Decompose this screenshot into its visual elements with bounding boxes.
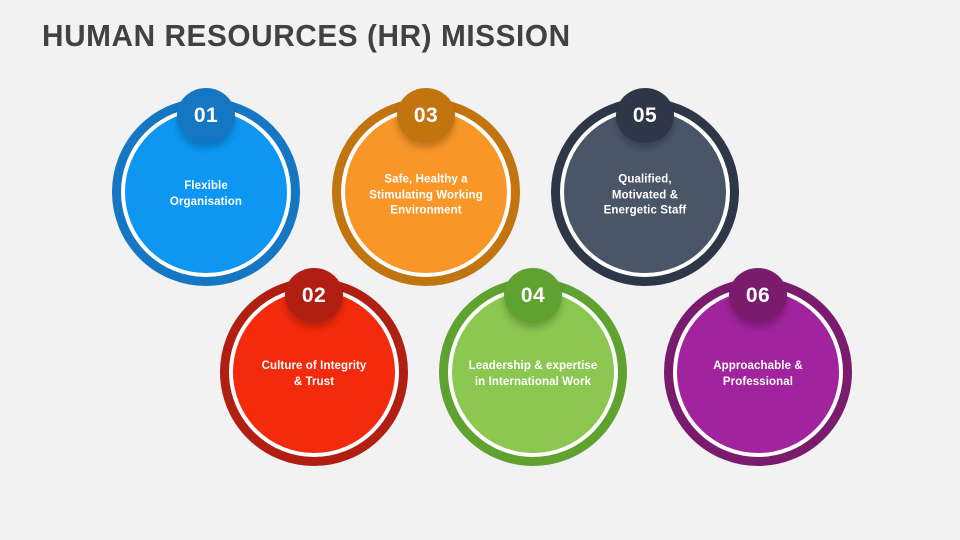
- mission-circle-label: FlexibleOrganisation: [125, 179, 287, 210]
- page-title: HUMAN RESOURCES (HR) MISSION: [42, 18, 571, 54]
- mission-circle-label: Safe, Healthy aStimulating WorkingEnviro…: [345, 172, 507, 219]
- mission-circle-label: Leadership & expertisein International W…: [452, 359, 614, 390]
- mission-circle-02[interactable]: Culture of Integrity& Trust02: [220, 278, 408, 466]
- mission-circle-number-badge-03[interactable]: 03: [397, 88, 455, 143]
- mission-circle-number-badge-01[interactable]: 01: [177, 88, 235, 143]
- mission-circle-05[interactable]: Qualified,Motivated &Energetic Staff05: [551, 98, 739, 286]
- mission-circle-number-badge-04[interactable]: 04: [504, 268, 562, 323]
- mission-circle-03[interactable]: Safe, Healthy aStimulating WorkingEnviro…: [332, 98, 520, 286]
- mission-circle-04[interactable]: Leadership & expertisein International W…: [439, 278, 627, 466]
- mission-circle-01[interactable]: FlexibleOrganisation01: [112, 98, 300, 286]
- mission-circle-number-badge-06[interactable]: 06: [729, 268, 787, 323]
- mission-circle-label: Approachable &Professional: [677, 359, 839, 390]
- mission-circle-number-badge-05[interactable]: 05: [616, 88, 674, 143]
- mission-circle-label: Culture of Integrity& Trust: [233, 359, 395, 390]
- slide-canvas: HUMAN RESOURCES (HR) MISSION FlexibleOrg…: [0, 0, 960, 540]
- mission-circle-number-badge-02[interactable]: 02: [285, 268, 343, 323]
- mission-circle-label: Qualified,Motivated &Energetic Staff: [564, 172, 726, 219]
- mission-circle-06[interactable]: Approachable &Professional06: [664, 278, 852, 466]
